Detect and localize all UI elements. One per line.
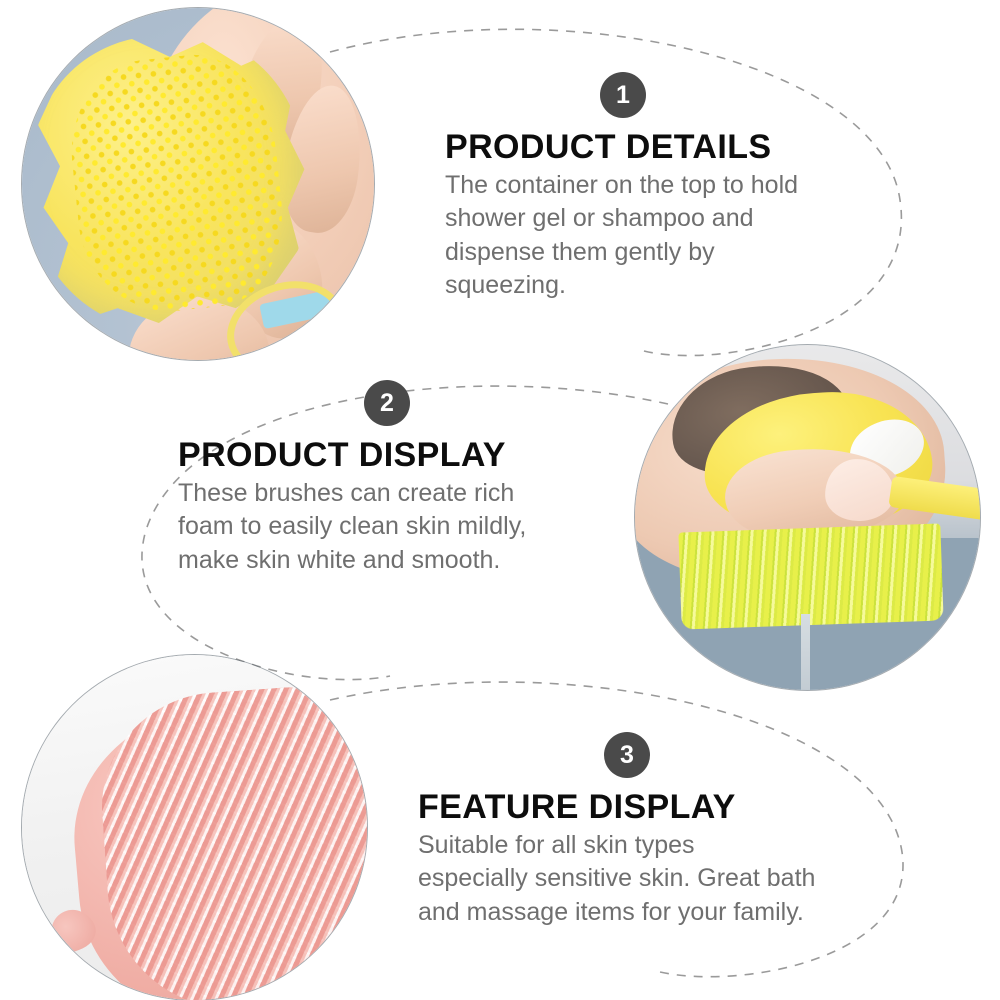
step-number-badge-3: 3: [604, 732, 650, 778]
section-3: 3 FEATURE DISPLAY Suitable for all skin …: [418, 732, 815, 929]
product-photo-1: [22, 8, 374, 360]
yellow-bristles: [678, 523, 943, 629]
section-1-heading: PRODUCT DETAILS: [445, 128, 798, 167]
section-3-heading: FEATURE DISPLAY: [418, 788, 815, 827]
product-infographic-page: 1 PRODUCT DETAILS The container on the t…: [0, 0, 1000, 1000]
section-2-heading: PRODUCT DISPLAY: [178, 436, 526, 475]
section-2: 2 PRODUCT DISPLAY These brushes can crea…: [178, 380, 526, 577]
product-photo-3: [22, 655, 367, 1000]
section-1-body: The container on the top to hold shower …: [445, 169, 798, 302]
section-2-body: These brushes can create rich foam to ea…: [178, 477, 526, 577]
product-photo-2: [635, 345, 980, 690]
section-1: 1 PRODUCT DETAILS The container on the t…: [445, 72, 798, 302]
support-stick: [801, 614, 810, 690]
section-3-body: Suitable for all skin types especially s…: [418, 829, 815, 929]
pink-bristles: [94, 680, 367, 1000]
step-number-badge-2: 2: [364, 380, 410, 426]
step-number-badge-1: 1: [600, 72, 646, 118]
